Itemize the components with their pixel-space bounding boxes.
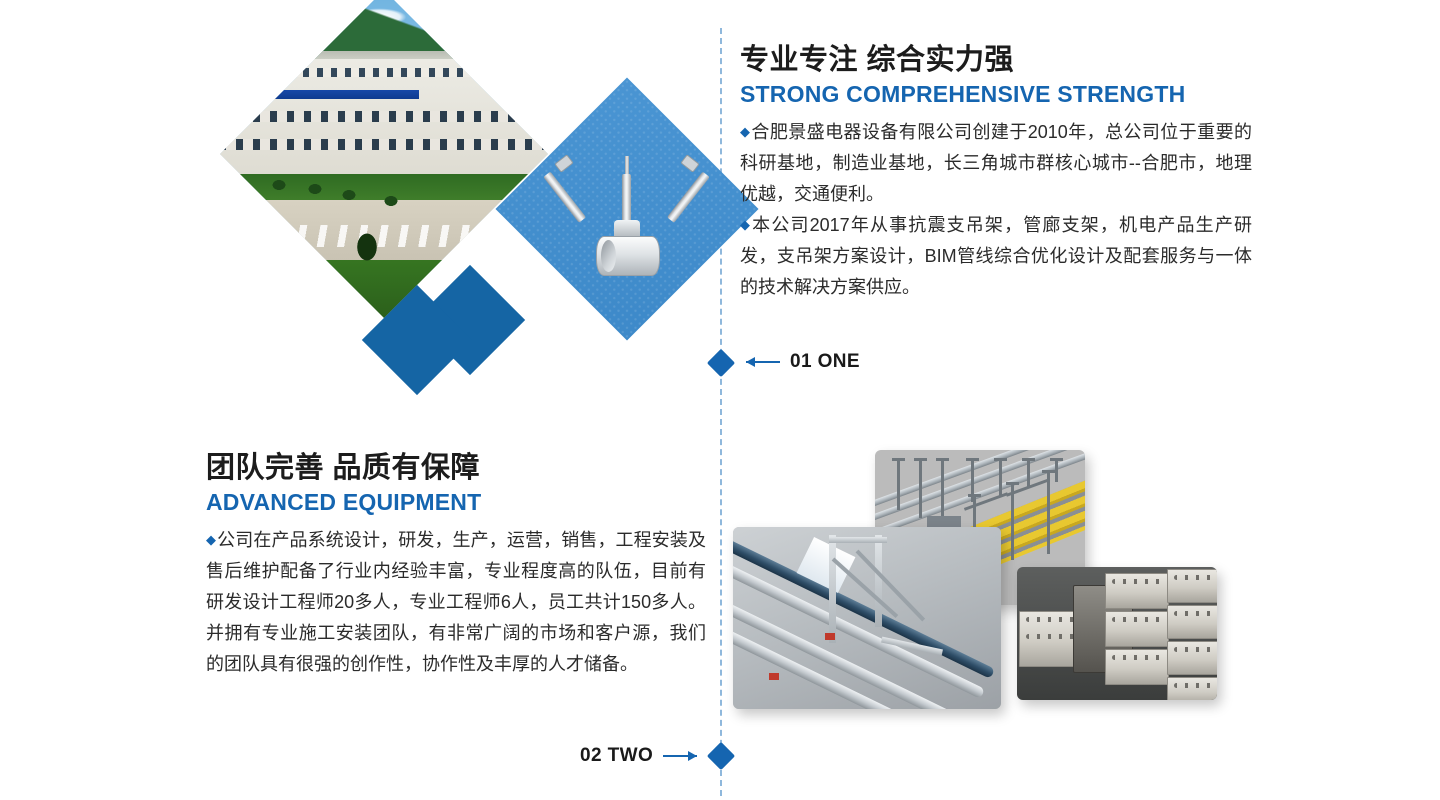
mep-bracing-install-photo xyxy=(733,527,1001,709)
step-two-marker[interactable]: 02 TWO xyxy=(580,745,697,767)
brace-tip-right xyxy=(680,154,699,173)
section-two-en-title: ADVANCED EQUIPMENT xyxy=(206,489,706,517)
cable-tray-image xyxy=(1017,567,1217,700)
section-one-text-block: 专业专注 综合实力强 STRONG COMPREHENSIVE STRENGTH… xyxy=(740,44,1252,303)
step-one-label: 01 ONE xyxy=(790,351,860,373)
tray-perforations xyxy=(1174,611,1212,616)
tray-back-2 xyxy=(1105,611,1169,647)
seismic-brace-illustration xyxy=(534,116,720,302)
vertical-dashed-divider xyxy=(720,28,722,796)
tray-right-4 xyxy=(1167,677,1217,700)
timeline-node-two-diamond xyxy=(707,742,735,770)
bullet-diamond-icon: ◆ xyxy=(206,532,216,547)
strut-vertical-left xyxy=(829,535,836,643)
seismic-brace-product-photo xyxy=(495,77,758,340)
step-two-label: 02 TWO xyxy=(580,745,653,767)
hanger-rod-2 xyxy=(919,458,922,518)
red-marker-tag-2 xyxy=(769,673,779,680)
arrow-right-icon xyxy=(663,755,697,757)
section-one-paragraph-2-text: 本公司2017年从事抗震支吊架，管廊支架，机电产品生产研发，支吊架方案设计，BI… xyxy=(740,215,1252,297)
tray-right-1 xyxy=(1167,569,1217,603)
bullet-diamond-icon: ◆ xyxy=(740,124,750,139)
cable-tray-stack-photo xyxy=(1017,567,1217,700)
section-two-cn-title: 团队完善 品质有保障 xyxy=(206,452,706,485)
brace-center-strut xyxy=(622,174,631,226)
strut-vertical-right xyxy=(875,535,882,627)
tray-perforations xyxy=(1174,575,1212,580)
tray-perforations xyxy=(1174,647,1212,652)
step-one-marker[interactable]: 01 ONE xyxy=(746,351,860,373)
tray-back-3 xyxy=(1105,649,1169,685)
factory-exterior-image xyxy=(220,0,548,318)
tray-perforations xyxy=(1112,655,1162,660)
tray-perforations xyxy=(1112,579,1162,584)
section-one-paragraph-2: ◆本公司2017年从事抗震支吊架，管廊支架，机电产品生产研发，支吊架方案设计，B… xyxy=(740,210,1252,303)
section-two-paragraph-1-text: 公司在产品系统设计，研发，生产，运营，销售，工程安装及售后维护配备了行业内经验丰… xyxy=(206,530,706,674)
section-one-paragraph-1: ◆合肥景盛电器设备有限公司创建于2010年，总公司位于重要的科研基地，制造业基地… xyxy=(740,117,1252,210)
section-two-paragraph-1: ◆公司在产品系统设计，研发，生产，运营，销售，工程安装及售后维护配备了行业内经验… xyxy=(206,525,706,680)
bullet-diamond-icon: ◆ xyxy=(740,217,751,232)
hanger-rod-5 xyxy=(999,458,1002,496)
brace-tip-left xyxy=(554,154,573,173)
strut-horizontal-top xyxy=(829,537,887,543)
mep-bracing-image xyxy=(733,527,1001,709)
vertical-post-3 xyxy=(1047,470,1050,554)
hanger-rod-1 xyxy=(897,458,900,510)
tray-back-1 xyxy=(1105,573,1169,609)
factory-exterior-photo xyxy=(220,0,548,318)
vertical-post-2 xyxy=(1011,482,1014,560)
tray-perforations xyxy=(1174,683,1212,688)
section-two-text-block: 团队完善 品质有保障 ADVANCED EQUIPMENT ◆公司在产品系统设计… xyxy=(206,452,706,680)
hanger-rod-3 xyxy=(941,458,944,524)
red-marker-tag-1 xyxy=(825,633,835,640)
equipment-photo-collage xyxy=(725,440,1245,735)
section-one-en-title: STRONG COMPREHENSIVE STRENGTH xyxy=(740,81,1252,109)
tray-perforations xyxy=(1112,617,1162,622)
brace-arm-left xyxy=(543,172,586,223)
diamond-photo-collage xyxy=(200,18,720,398)
brace-pipe-clamp xyxy=(596,236,660,276)
tray-right-3 xyxy=(1167,641,1217,675)
hanger-rod-7 xyxy=(1055,458,1058,482)
tray-right-2 xyxy=(1167,605,1217,639)
arrow-left-icon xyxy=(746,361,780,363)
hanger-rod-6 xyxy=(1027,458,1030,488)
brace-arm-right xyxy=(667,172,710,223)
section-one-cn-title: 专业专注 综合实力强 xyxy=(740,44,1252,77)
section-one-paragraph-1-text: 合肥景盛电器设备有限公司创建于2010年，总公司位于重要的科研基地，制造业基地，… xyxy=(740,122,1252,204)
